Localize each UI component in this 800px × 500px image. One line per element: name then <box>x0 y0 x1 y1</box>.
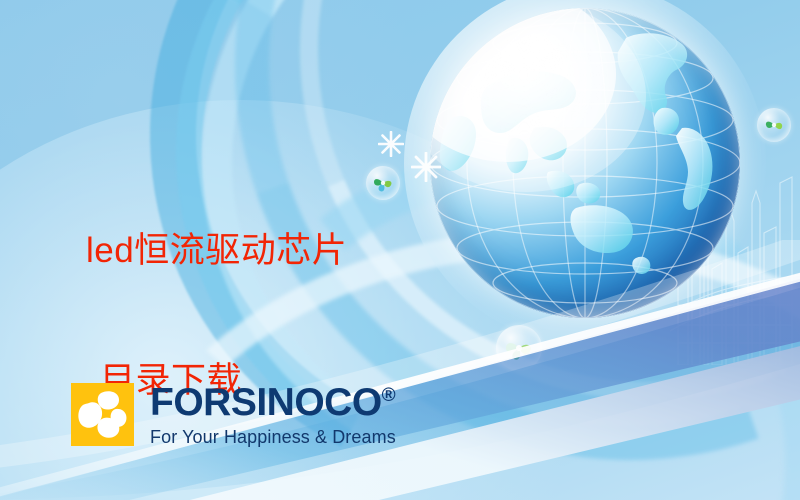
green-pinwheel-icon <box>757 108 791 142</box>
headline-line-1: led恒流驱动芯片 <box>86 233 347 268</box>
brand-name: FORSINOCO® <box>150 383 396 422</box>
starburst-icon <box>411 152 441 182</box>
brand-name-word: FORSINOCO <box>150 381 382 424</box>
bubble-small-upper <box>366 166 400 200</box>
four-petal-pinwheel-flower-icon <box>71 383 134 446</box>
promo-banner: led恒流驱动芯片 目录下载 FORSINOCO® For Your Happi… <box>0 0 800 500</box>
green-pinwheel-icon <box>366 166 400 200</box>
brand-logo-text: FORSINOCO® For Your Happiness & Dreams <box>150 383 396 446</box>
starburst-icon <box>378 131 404 157</box>
registered-trademark-icon: ® <box>382 385 396 406</box>
brand-logo: FORSINOCO® For Your Happiness & Dreams <box>71 383 396 446</box>
brand-tagline: For Your Happiness & Dreams <box>150 428 396 446</box>
bubble-right-edge <box>757 108 791 142</box>
